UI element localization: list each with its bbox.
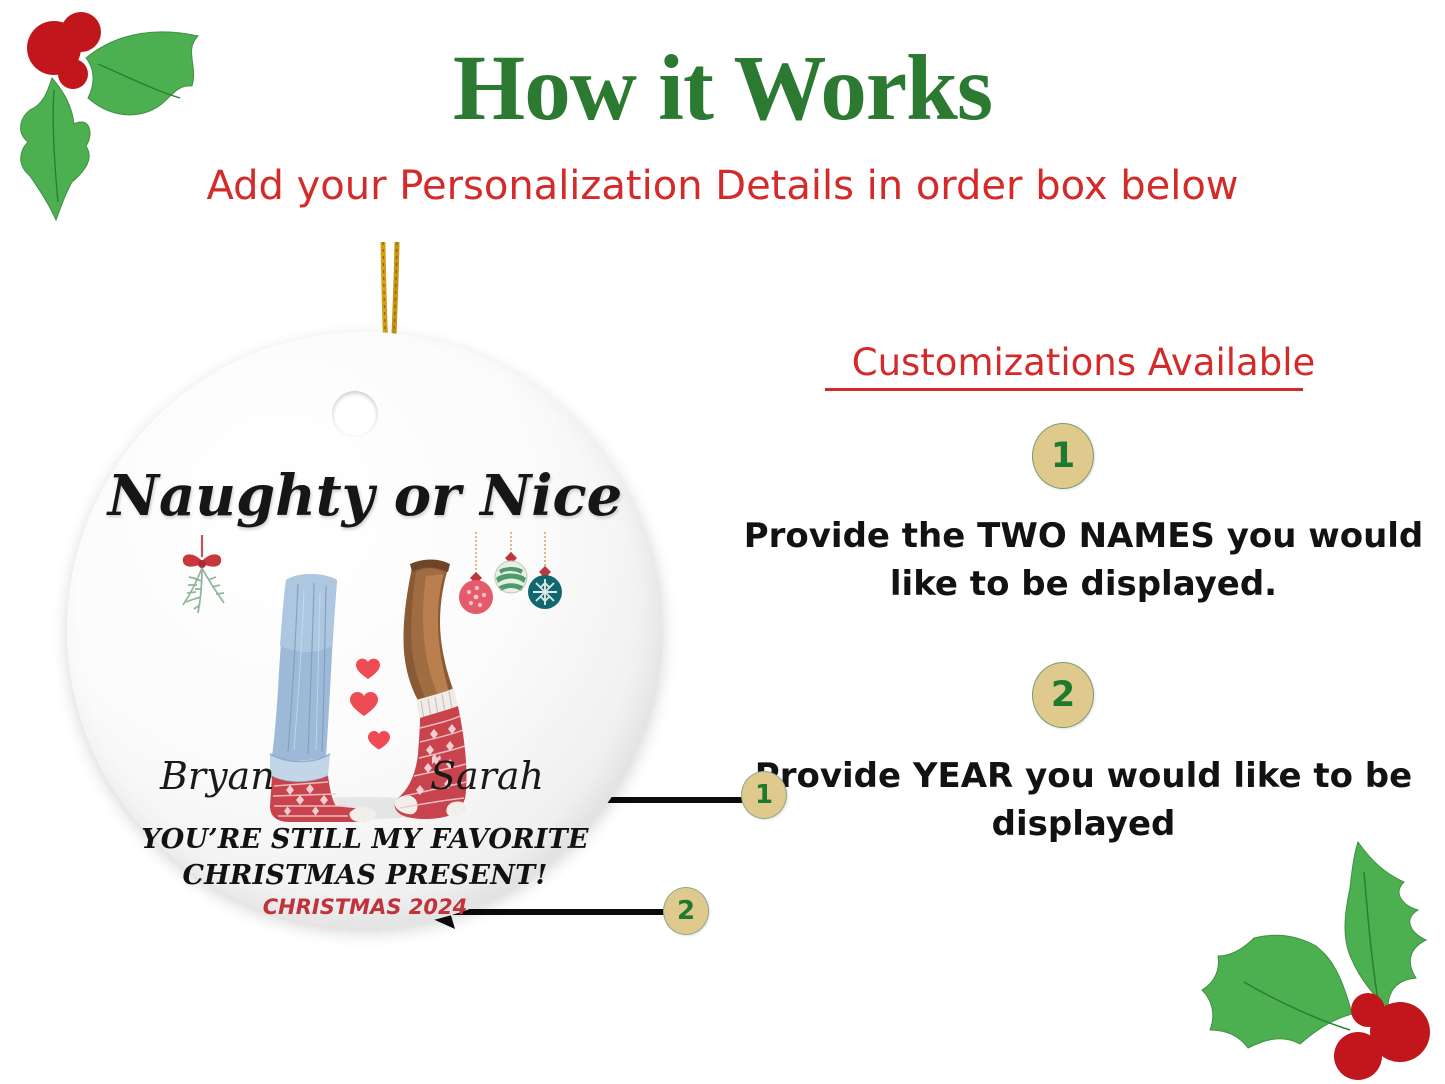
mistletoe-icon: [167, 535, 237, 632]
step-badge-2: 2: [1032, 662, 1094, 728]
ornament-product-image: Naughty or Nice Bryan Sarah YOU’RE STILL…: [55, 240, 675, 960]
holly-icon: [1182, 828, 1442, 1084]
step-badge-1: 1: [1032, 423, 1094, 489]
step-description-1: Provide the TWO NAMES you would like to …: [722, 512, 1445, 609]
customizations-heading: Customizations Available: [722, 342, 1445, 385]
ornament-year-line: CHRISTMAS 2024: [115, 897, 615, 918]
how-it-works-infographic: How it Works Add your Personalization De…: [0, 0, 1445, 1084]
page-subtitle: Add your Personalization Details in orde…: [0, 166, 1445, 206]
ornament-script-title: Naughty or Nice: [55, 468, 675, 524]
step-description-2: Provide YEAR you would like to be displa…: [722, 752, 1445, 849]
ornament-name-right: Sarah: [430, 757, 544, 795]
ornament-name-left: Bryan: [160, 757, 275, 795]
callout-badge-1: 1: [741, 771, 787, 819]
heading-underline: [825, 388, 1303, 391]
ornament-hanging-hole: [332, 391, 378, 437]
page-title: How it Works: [0, 42, 1445, 135]
ornament-tagline: YOU’RE STILL MY FAVORITE CHRISTMAS PRESE…: [115, 822, 615, 894]
holly-icon: [2, 6, 202, 226]
